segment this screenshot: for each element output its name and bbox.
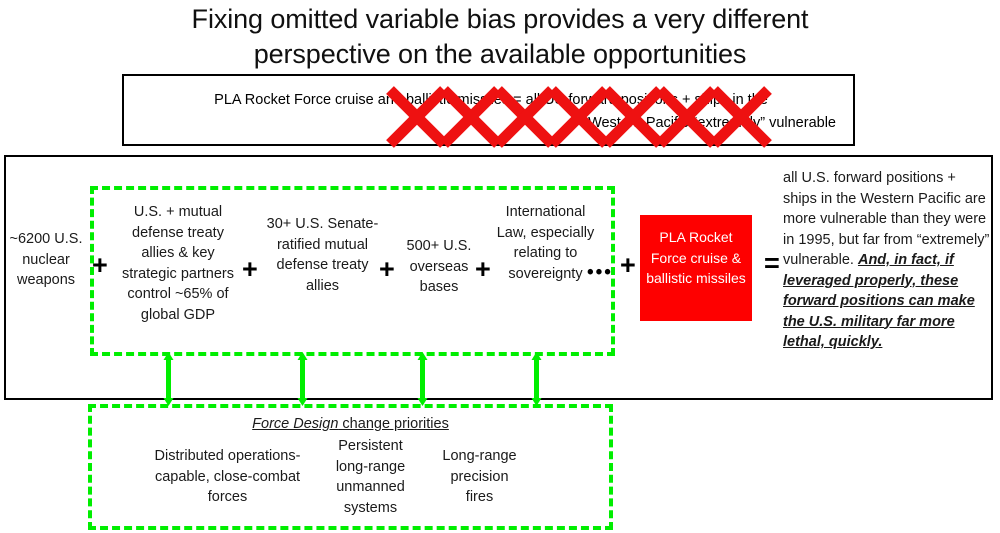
plus-sign-4: + <box>475 256 491 283</box>
struck-claim-text: PLA Rocket Force cruise and ballistic mi… <box>146 89 836 135</box>
equation-term-allies: U.S. + mutual defense treaty allies & ke… <box>116 202 240 325</box>
priority-persistent-isr: Persistent long-range unmanned systems <box>329 436 412 518</box>
connector-arrow-1 <box>163 352 174 406</box>
struck-claim-line-1: PLA Rocket Force cruise and ballistic mi… <box>146 89 836 112</box>
force-design-title-rest: change priorities <box>338 416 448 432</box>
page-title-line-1: Fixing omitted variable bias provides a … <box>60 2 940 37</box>
equation-term-international-law: International Law, especially relating t… <box>494 202 597 284</box>
assets-group-box: U.S. + mutual defense treaty allies & ke… <box>90 186 615 356</box>
struck-claim-line-2: Western Pacific “extremely” vulnerable <box>146 112 836 135</box>
priority-long-range-fires: Long-range precision fires <box>437 446 522 508</box>
plus-sign-5: + <box>620 252 636 279</box>
equation-term-treaty-allies: 30+ U.S. Senate-ratified mutual defense … <box>264 214 381 296</box>
connector-arrow-3 <box>417 352 428 406</box>
plus-sign-2: + <box>242 256 258 283</box>
pla-rocket-force-box: PLA Rocket Force cruise & ballistic miss… <box>640 215 752 321</box>
equation-term-bases: 500+ U.S. overseas bases <box>400 236 478 298</box>
force-design-priorities-title: Force Design change priorities <box>92 414 609 434</box>
plus-sign-3: + <box>379 256 395 283</box>
connector-arrow-2 <box>297 352 308 406</box>
equals-sign: = <box>764 250 780 277</box>
force-design-title-italic: Force Design <box>252 416 338 432</box>
force-design-priorities-box: Force Design change priorities Distribut… <box>88 404 613 530</box>
pla-rocket-force-label: PLA Rocket Force cruise & ballistic miss… <box>644 227 748 289</box>
priority-distributed-ops: Distributed operations-capable, close-co… <box>140 446 315 508</box>
ellipsis-icon: ••• <box>587 263 613 282</box>
struck-claim-box: PLA Rocket Force cruise and ballistic mi… <box>122 74 855 146</box>
conclusion-text: all U.S. forward positions + ships in th… <box>783 168 991 353</box>
equation-term-nukes: ~6200 U.S. nuclear weapons <box>4 229 88 291</box>
connector-arrow-4 <box>531 352 542 406</box>
page-title-line-2: perspective on the available opportuniti… <box>60 37 940 72</box>
page-title: Fixing omitted variable bias provides a … <box>60 2 940 72</box>
